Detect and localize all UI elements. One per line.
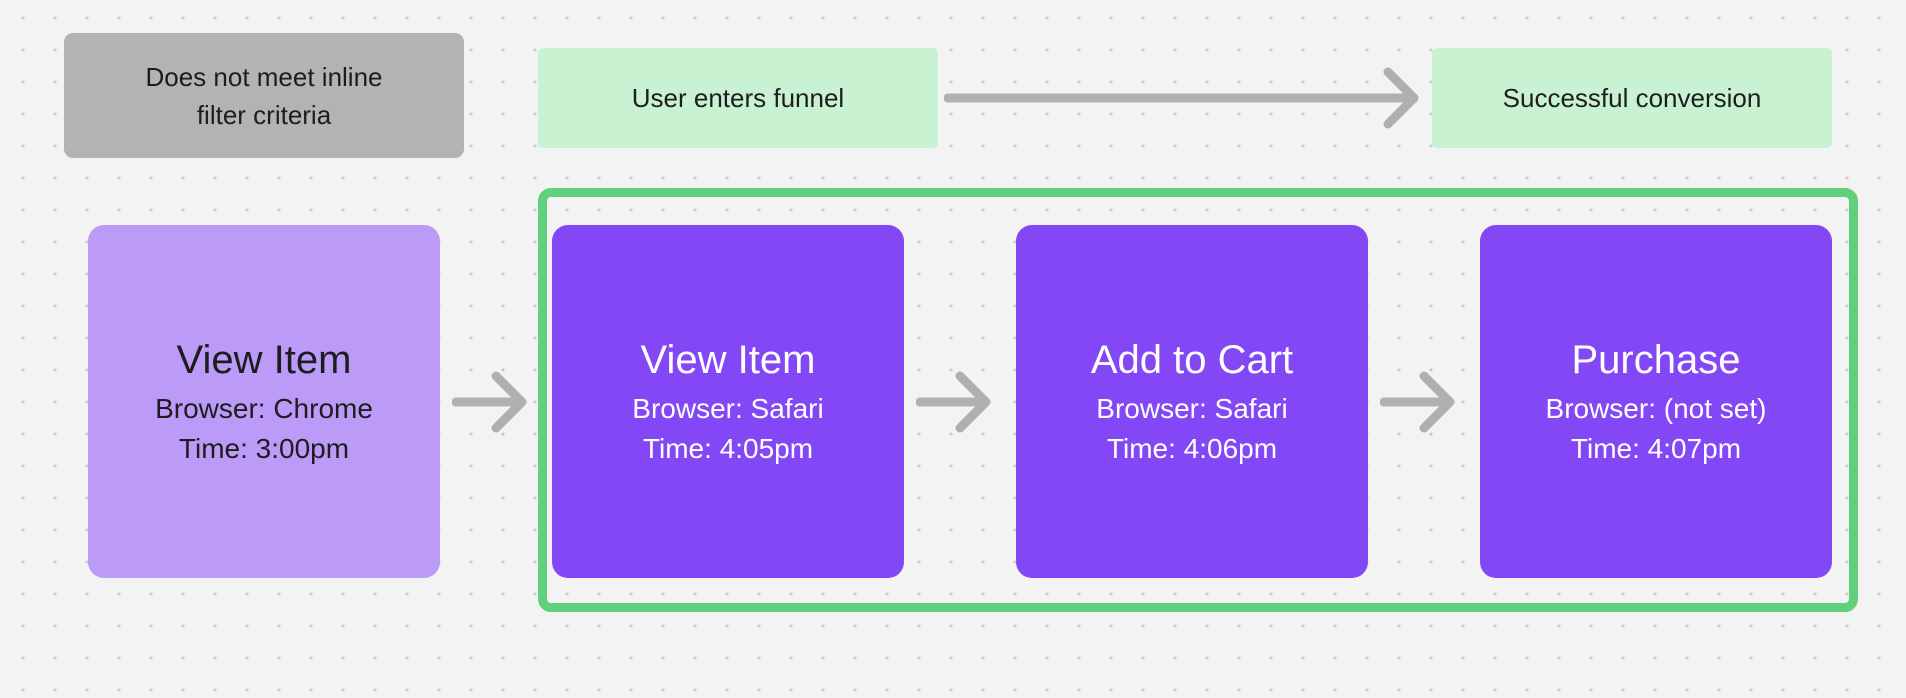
legend-note-excluded-line-1: Does not meet inline	[145, 58, 382, 96]
journey-step-browser: Browser: Safari	[632, 389, 823, 429]
journey-step-title: View Item	[177, 335, 352, 385]
legend-note-excluded[interactable]: Does not meet inline filter criteria	[64, 33, 464, 158]
journey-step-title: View Item	[641, 335, 816, 385]
legend-note-successful-conversion[interactable]: Successful conversion	[1432, 48, 1832, 148]
journey-step-card-1[interactable]: View Item Browser: Safari Time: 4:05pm	[552, 225, 904, 578]
journey-step-browser: Browser: Chrome	[155, 389, 373, 429]
journey-step-card-3[interactable]: Purchase Browser: (not set) Time: 4:07pm	[1480, 225, 1832, 578]
journey-connector-arrow-right-icon	[1380, 366, 1460, 438]
diagram-canvas: Does not meet inline filter criteria Use…	[0, 0, 1906, 698]
journey-step-time: Time: 4:05pm	[643, 429, 813, 469]
legend-note-funnel-entry[interactable]: User enters funnel	[538, 48, 938, 148]
legend-note-funnel-entry-label: User enters funnel	[632, 81, 844, 115]
journey-step-card-excluded[interactable]: View Item Browser: Chrome Time: 3:00pm	[88, 225, 440, 578]
journey-step-title: Add to Cart	[1091, 335, 1293, 385]
journey-step-time: Time: 3:00pm	[179, 429, 349, 469]
journey-step-browser: Browser: Safari	[1096, 389, 1287, 429]
legend-note-excluded-line-2: filter criteria	[197, 96, 331, 134]
legend-arrow-right-icon	[944, 62, 1428, 134]
journey-step-card-2[interactable]: Add to Cart Browser: Safari Time: 4:06pm	[1016, 225, 1368, 578]
journey-step-browser: Browser: (not set)	[1546, 389, 1767, 429]
legend-note-successful-conversion-label: Successful conversion	[1503, 81, 1762, 115]
journey-connector-arrow-right-icon	[916, 366, 996, 438]
journey-step-title: Purchase	[1572, 335, 1741, 385]
journey-step-time: Time: 4:07pm	[1571, 429, 1741, 469]
journey-connector-arrow-right-icon	[452, 366, 532, 438]
journey-step-time: Time: 4:06pm	[1107, 429, 1277, 469]
